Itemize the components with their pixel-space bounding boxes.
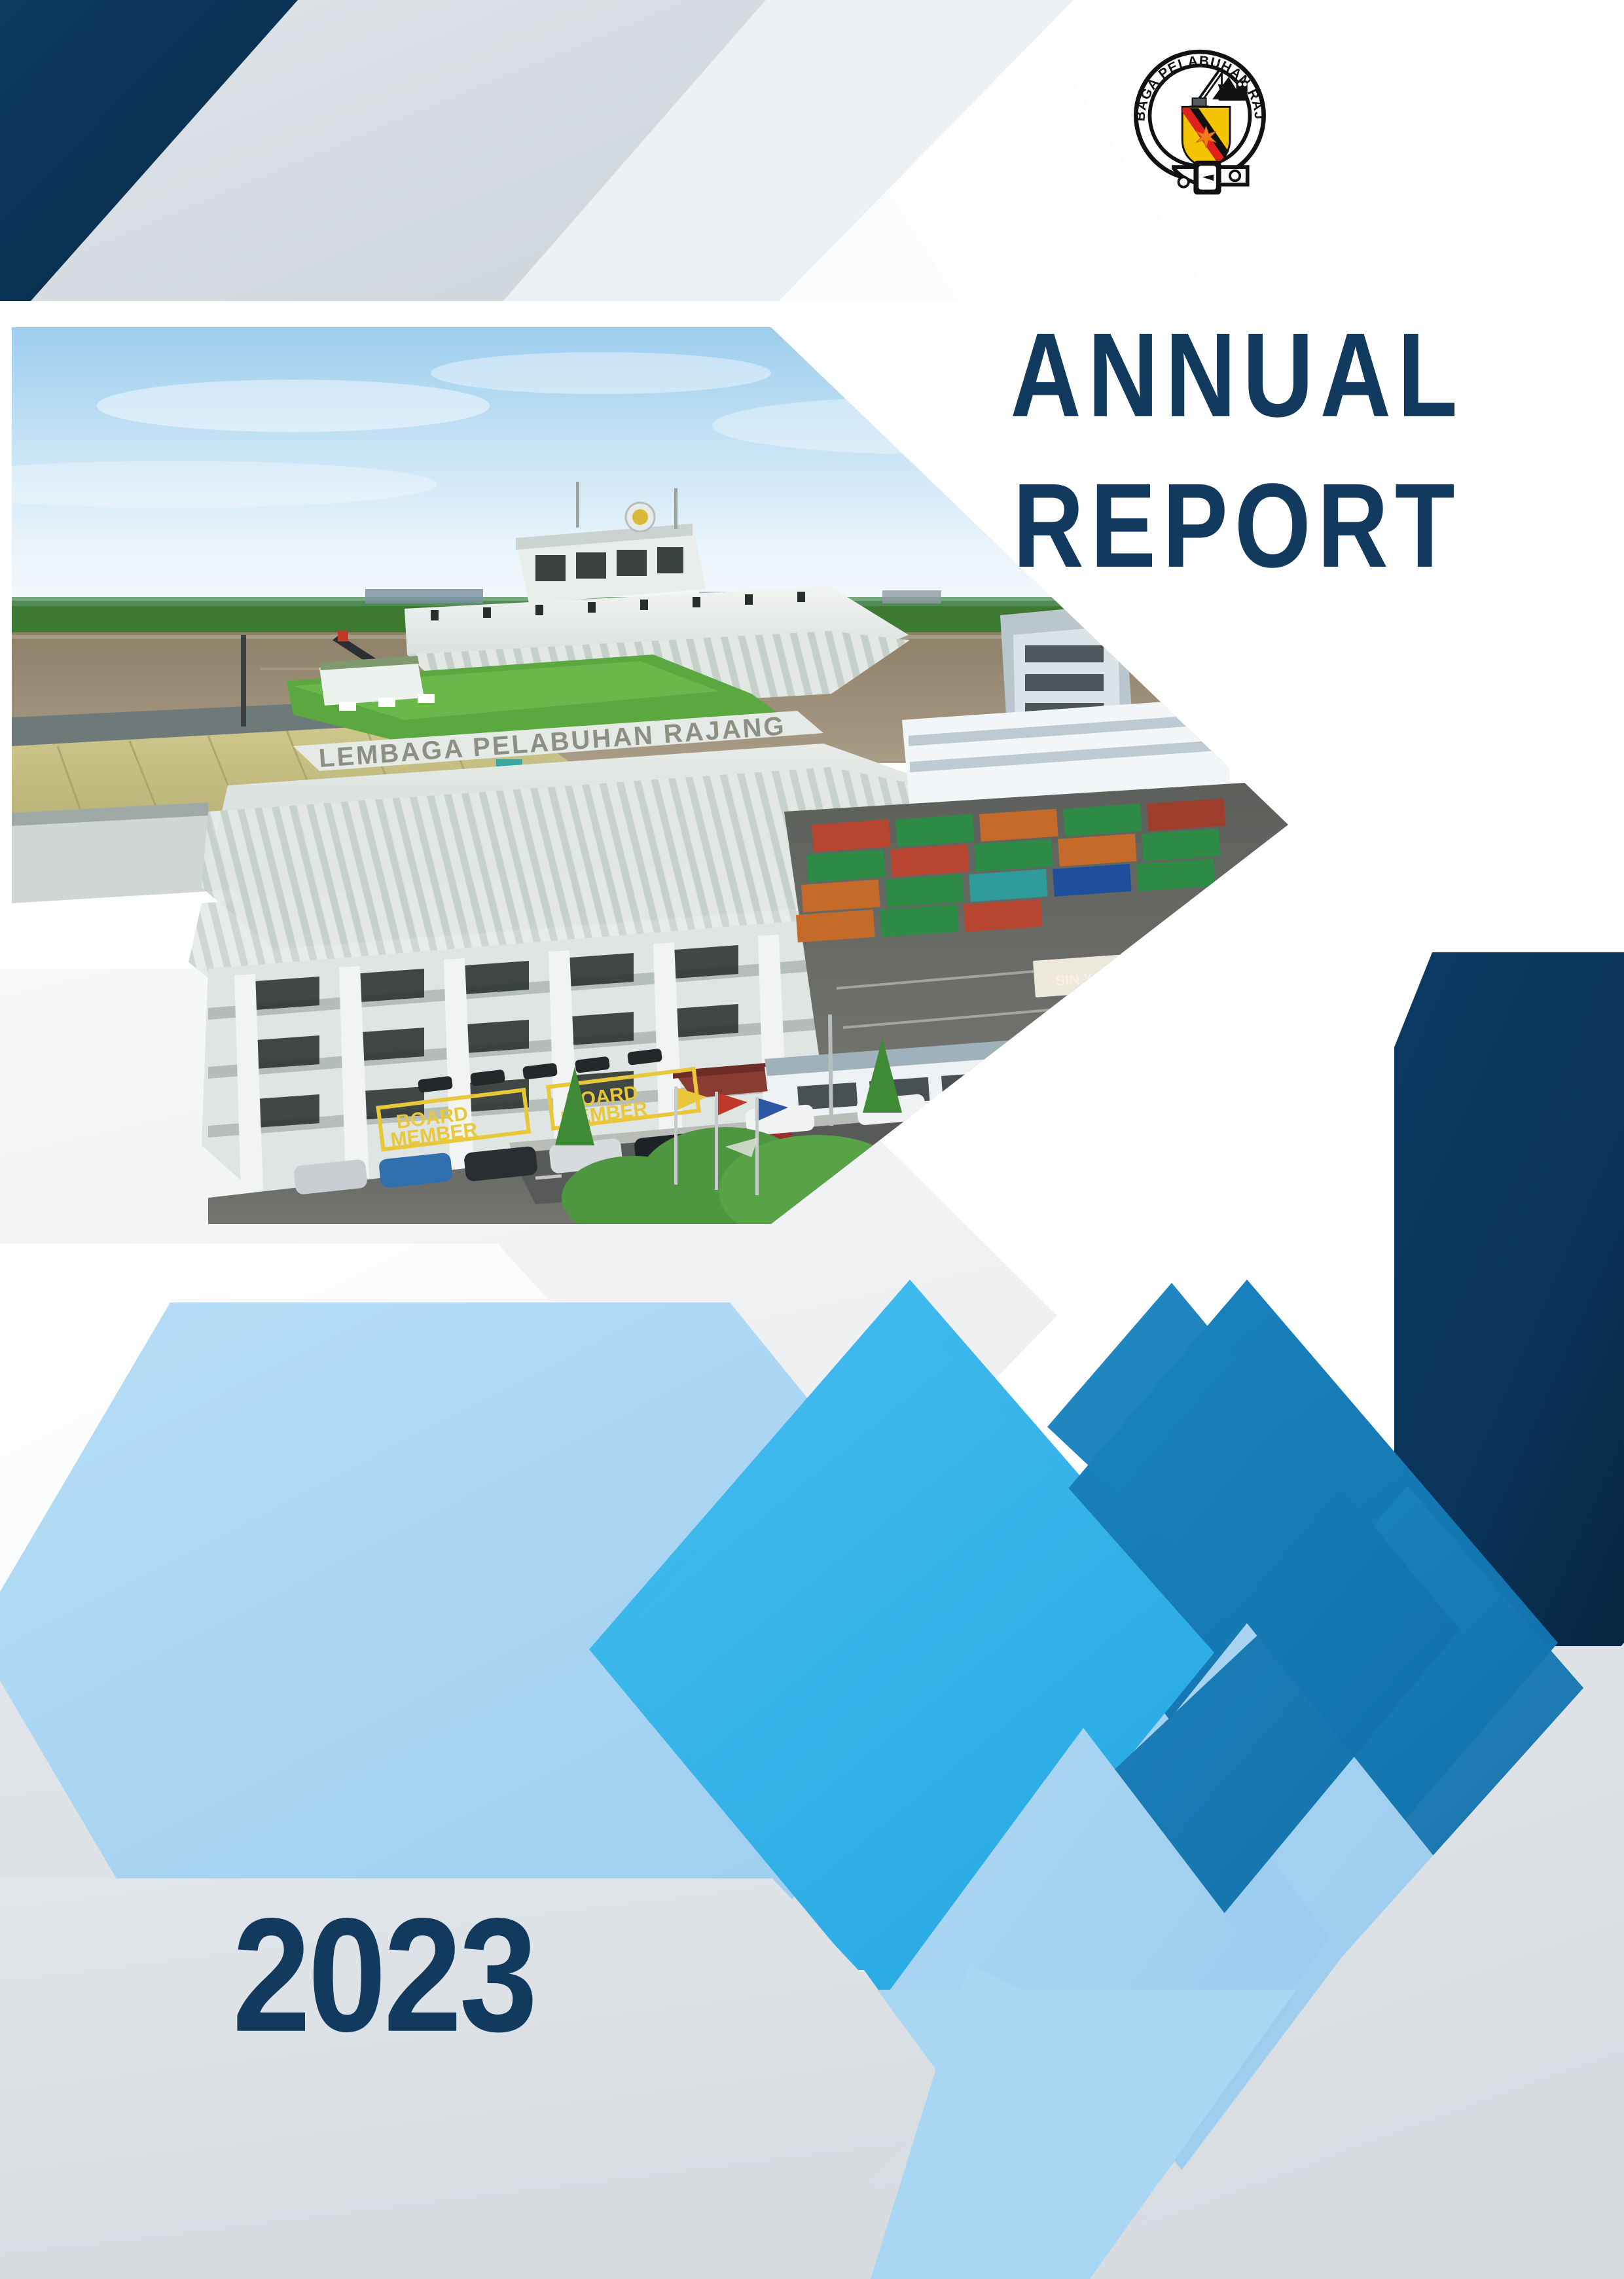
- page-title-line-1: ANNUAL: [952, 308, 1522, 442]
- annual-report-cover-page: LEMBAGA PELABUHAN RAJANG: [0, 0, 1624, 2279]
- cover-title-block: ANNUAL REPORT: [952, 308, 1522, 568]
- page-title-line-2: REPORT: [952, 458, 1522, 592]
- report-year: 2023: [232, 1882, 535, 2068]
- organization-logo: LEMBAGA PELABUHAN RAJANG: [1125, 38, 1275, 198]
